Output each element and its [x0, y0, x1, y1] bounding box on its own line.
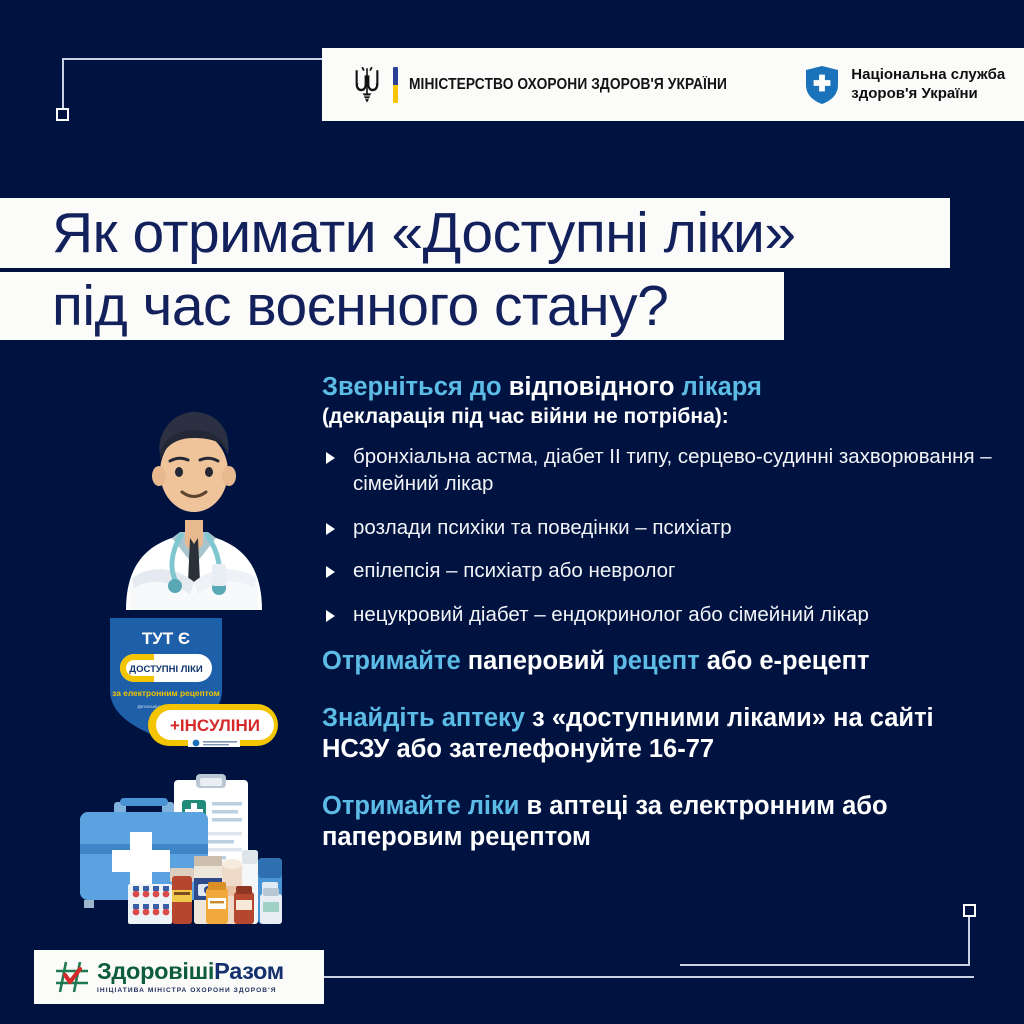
- bracket-vertical-line: [62, 58, 64, 114]
- logo-tagline: ІНІЦІАТИВА МІНІСТРА ОХОРОНИ ЗДОРОВ'Я: [97, 987, 284, 994]
- bullet-text: розлади психіки та поведінки – психіатр: [353, 516, 732, 539]
- logo-word-green: Здорові: [97, 958, 189, 984]
- list-item: епілепсія – психіатр або невролог: [322, 558, 1002, 585]
- triangle-bullet-icon: [326, 610, 335, 622]
- bracket-square-knob: [963, 904, 976, 917]
- shield-cross-icon: [804, 65, 840, 105]
- triangle-bullet-icon: [326, 452, 335, 464]
- bullet-text: епілепсія – психіатр або невролог: [353, 559, 676, 582]
- logo-wordmark: ЗдоровішіРазом: [97, 960, 284, 984]
- nszu-logo: Національна служба здоров'я України: [804, 65, 1005, 105]
- bracket-horizontal-line: [62, 58, 332, 60]
- logo-word-blue: Разом: [214, 958, 284, 984]
- hashtag-checkmark-icon: [54, 960, 90, 994]
- page-title-line-2: під час воєнного стану?: [0, 272, 784, 340]
- nszu-line-1: Національна служба: [851, 66, 1005, 84]
- list-item: нецукровий діабет – ендокринолог або сім…: [322, 602, 1002, 629]
- bullet-text: нецукровий діабет – ендокринолог або сім…: [353, 603, 869, 626]
- logo-text-block: ЗдоровішіРазом ІНІЦІАТИВА МІНІСТРА ОХОРО…: [97, 960, 284, 994]
- corner-bracket-top-left: [56, 58, 336, 120]
- ukraine-trident-icon: [352, 66, 382, 104]
- list-item: бронхіальна астма, діабет ІІ типу, серце…: [322, 444, 1002, 497]
- bracket-square-knob: [56, 108, 69, 121]
- footer-divider-line: [324, 976, 974, 978]
- ministry-label: МІНІСТЕРСТВО ОХОРОНИ ЗДОРОВ'Я УКРАЇНИ: [409, 76, 727, 94]
- bracket-vertical-line: [968, 910, 970, 966]
- nszu-line-2: здоров'я України: [851, 85, 1005, 103]
- step-2: Отримайте паперовий рецепт або е-рецепт: [322, 646, 1002, 677]
- step-2-heading-tail: або е-рецепт: [700, 647, 870, 675]
- ukraine-flag-bar: [393, 67, 398, 103]
- step-2-heading-accent-2: рецепт: [612, 647, 700, 675]
- steps-content: Зверніться до відповідного лікаря (декла…: [322, 372, 1002, 857]
- bullet-text: бронхіальна астма, діабет ІІ типу, серце…: [353, 445, 992, 495]
- sign-sub-text: за електронним рецептом: [112, 688, 220, 698]
- step-3: Знайдіть аптеку з «доступними ліками» на…: [322, 703, 1002, 765]
- step-3-heading-accent: Знайдіть аптеку: [322, 704, 525, 732]
- doctor-illustration: [86, 368, 302, 610]
- page-title-line-1: Як отримати «Доступні ліки»: [0, 198, 950, 268]
- zdorovishi-razom-logo: ЗдоровішіРазом ІНІЦІАТИВА МІНІСТРА ОХОРО…: [34, 950, 324, 1004]
- step-1-bullet-list: бронхіальна астма, діабет ІІ типу, серце…: [322, 444, 1002, 628]
- step-4-heading-accent: Отримайте ліки: [322, 792, 519, 820]
- step-1-heading: Зверніться до відповідного лікаря: [322, 372, 1002, 403]
- medical-kit-illustration: [70, 772, 302, 934]
- step-2-heading: Отримайте паперовий рецепт або е-рецепт: [322, 646, 1002, 677]
- pharmacy-sign-illustration: ТУТ Є ДОСТУПНІ ЛІКИ за електронним рецеп…: [92, 612, 284, 757]
- step-4-heading: Отримайте ліки в аптеці за електронним а…: [322, 791, 1002, 853]
- triangle-bullet-icon: [326, 523, 335, 535]
- step-1-heading-accent: Зверніться до: [322, 373, 502, 401]
- step-1-heading-accent-2: лікаря: [682, 373, 762, 401]
- sign-top-text: ТУТ Є: [142, 629, 190, 648]
- step-1-subtitle: (декларація під час війни не потрібна):: [322, 404, 1002, 430]
- triangle-bullet-icon: [326, 566, 335, 578]
- ministry-of-health-logo: МІНІСТЕРСТВО ОХОРОНИ ЗДОРОВ'Я УКРАЇНИ: [352, 66, 762, 104]
- logo-word-green-2: ші: [189, 958, 215, 984]
- nszu-label: Національна служба здоров'я України: [851, 66, 1005, 103]
- step-2-heading-accent: Отримайте: [322, 647, 461, 675]
- sign-badge-text: +ІНСУЛІНИ: [170, 716, 260, 735]
- sign-pill-text: ДОСТУПНІ ЛІКИ: [129, 664, 203, 675]
- step-2-heading-plain: паперовий: [461, 647, 613, 675]
- bracket-horizontal-line: [680, 964, 970, 966]
- corner-bracket-bottom-right: [676, 904, 976, 966]
- step-3-heading: Знайдіть аптеку з «доступними ліками» на…: [322, 703, 1002, 765]
- infographic-poster: МІНІСТЕРСТВО ОХОРОНИ ЗДОРОВ'Я УКРАЇНИ На…: [0, 0, 1024, 1024]
- step-4: Отримайте ліки в аптеці за електронним а…: [322, 791, 1002, 853]
- step-3-phone-number: 16-77: [649, 735, 714, 763]
- list-item: розлади психіки та поведінки – психіатр: [322, 515, 1002, 542]
- step-1: Зверніться до відповідного лікаря (декла…: [322, 372, 1002, 629]
- header-logo-strip: МІНІСТЕРСТВО ОХОРОНИ ЗДОРОВ'Я УКРАЇНИ На…: [322, 48, 1024, 121]
- step-1-heading-plain: відповідного: [502, 373, 682, 401]
